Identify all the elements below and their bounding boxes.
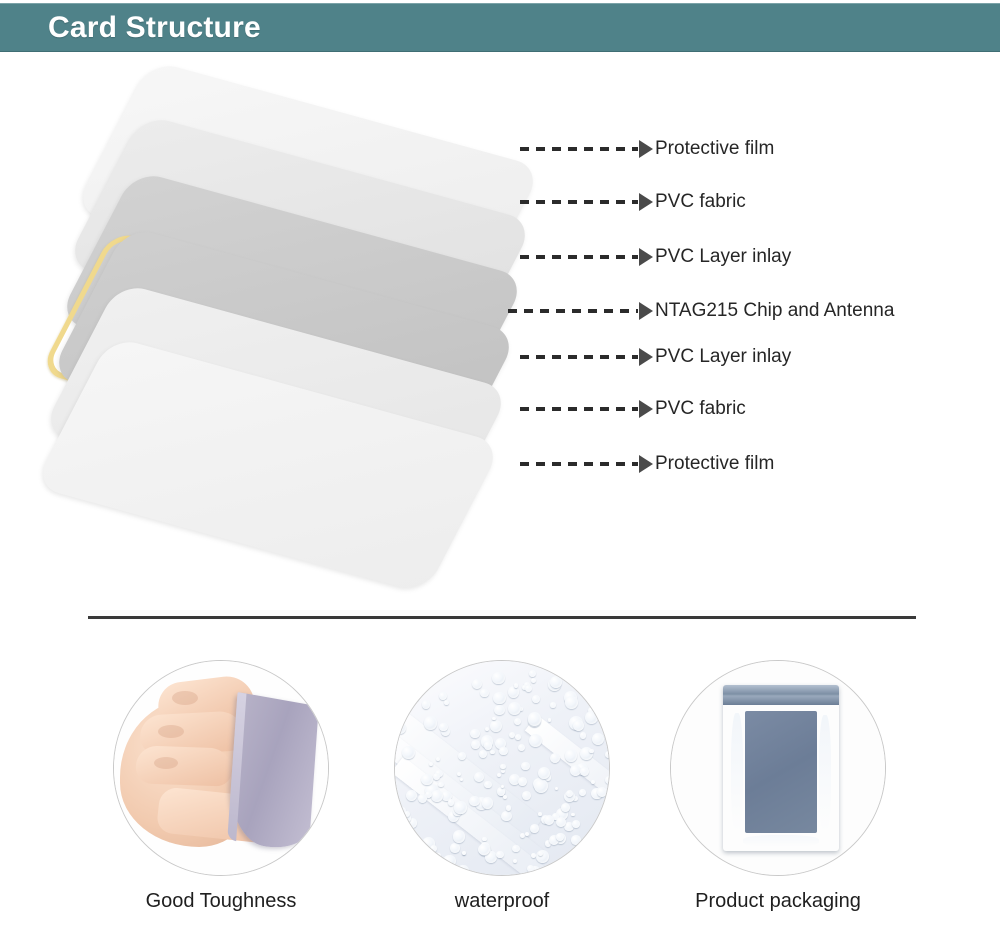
callout-label: PVC fabric	[655, 191, 746, 213]
water-droplet	[573, 720, 584, 731]
water-droplet	[512, 845, 520, 853]
water-droplet	[439, 692, 447, 700]
water-droplet	[600, 712, 606, 718]
water-droplet	[532, 695, 540, 703]
water-droplet	[497, 773, 501, 777]
water-droplet	[395, 865, 404, 874]
section-divider	[88, 616, 916, 619]
hand-knuckle	[158, 725, 184, 738]
water-droplet	[457, 865, 468, 876]
water-droplet	[529, 670, 536, 677]
card-structure-diagram: Protective film PVC fabric PVC Layer inl…	[0, 52, 1000, 600]
water-droplet	[518, 744, 525, 751]
water-droplet	[480, 689, 488, 697]
callout-label: Protective film	[655, 138, 774, 160]
water-droplet	[538, 812, 542, 816]
water-droplet	[402, 746, 415, 759]
water-droplet	[450, 843, 459, 852]
water-droplet	[591, 696, 596, 701]
callout-arrow-icon	[639, 140, 653, 158]
callout-dash-line	[520, 255, 638, 259]
water-droplet	[531, 678, 536, 683]
water-droplet	[550, 753, 561, 764]
water-droplet	[580, 767, 589, 776]
water-droplet	[571, 813, 575, 817]
callout-arrow-icon	[639, 193, 653, 211]
water-droplet	[550, 676, 562, 688]
callout-pvc-layer-inlay-bottom: PVC Layer inlay	[520, 346, 791, 368]
bent-pvc-card	[227, 692, 319, 854]
water-droplet	[394, 722, 406, 734]
feature-product-packaging: Product packaging	[653, 660, 903, 913]
water-droplet	[603, 700, 610, 708]
water-droplet	[484, 741, 493, 750]
water-droplet	[531, 853, 536, 858]
water-droplet	[479, 750, 487, 758]
water-droplet	[409, 841, 412, 844]
water-droplet	[422, 700, 430, 708]
water-droplet	[503, 795, 507, 799]
water-droplet	[418, 794, 427, 803]
feature-image-hand-bending-card	[113, 660, 329, 876]
bag-zip-seal	[723, 685, 839, 705]
bag-highlight	[819, 715, 831, 833]
water-droplet	[499, 747, 508, 756]
water-droplet	[580, 732, 587, 739]
water-droplet	[414, 854, 422, 862]
water-droplet	[587, 863, 591, 867]
callout-arrow-icon	[639, 348, 653, 366]
water-droplet	[520, 833, 525, 838]
water-droplet	[496, 851, 503, 858]
water-droplet	[538, 851, 543, 856]
hand-knuckle	[172, 691, 198, 705]
callout-pvc-fabric-bottom: PVC fabric	[520, 398, 746, 420]
water-droplet	[585, 711, 598, 724]
page-title: Card Structure	[48, 11, 261, 45]
feature-waterproof: waterproof	[377, 660, 627, 913]
hand-bending-card-photo	[114, 661, 328, 875]
water-droplet	[492, 672, 504, 684]
feature-image-waterproof	[394, 660, 610, 876]
water-droplet	[414, 840, 418, 844]
callout-arrow-icon	[639, 455, 653, 473]
water-droplet	[565, 696, 578, 709]
water-droplet	[413, 665, 427, 679]
water-droplet	[529, 734, 542, 747]
feature-caption: Product packaging	[653, 890, 903, 913]
water-droplet	[593, 701, 599, 707]
water-droplet	[592, 733, 604, 745]
water-droplet	[454, 801, 466, 813]
water-droplet	[522, 791, 531, 800]
water-droplet	[559, 663, 565, 669]
water-droplet	[421, 774, 433, 786]
feature-good-toughness: Good Toughness	[96, 660, 346, 913]
water-droplet	[470, 729, 480, 739]
water-droplet	[597, 787, 607, 797]
water-droplet	[492, 717, 495, 720]
water-droplet	[518, 777, 527, 786]
water-droplets-photo	[395, 661, 609, 875]
water-droplet	[561, 803, 570, 812]
water-droplet	[514, 683, 518, 687]
water-droplet	[605, 776, 610, 784]
water-droplet	[404, 811, 410, 817]
water-droplet	[515, 734, 521, 740]
water-droplet	[555, 787, 558, 790]
callout-protective-film-bottom: Protective film	[520, 453, 774, 475]
water-droplet	[405, 854, 413, 862]
antistatic-zip-bag	[723, 685, 839, 851]
water-droplet	[485, 727, 489, 731]
water-droplet	[471, 740, 480, 749]
callout-dash-line	[520, 462, 638, 466]
callout-ntag215-chip-and-antenna: NTAG215 Chip and Antenna	[508, 300, 894, 322]
water-droplet	[514, 718, 521, 725]
water-droplet	[457, 772, 461, 776]
callout-arrow-icon	[639, 302, 653, 320]
feature-panels: Good Toughness waterproof	[0, 660, 1000, 933]
callout-pvc-fabric-top: PVC fabric	[520, 191, 746, 213]
callout-dash-line	[508, 309, 638, 313]
callout-label: PVC Layer inlay	[655, 246, 791, 268]
water-droplet	[394, 827, 403, 836]
bag-window	[745, 711, 817, 833]
water-droplet	[521, 762, 529, 770]
water-droplet	[579, 846, 582, 849]
callout-label: PVC fabric	[655, 398, 746, 420]
callout-pvc-layer-inlay-top: PVC Layer inlay	[520, 246, 791, 268]
water-droplet	[589, 749, 594, 754]
callout-label: PVC Layer inlay	[655, 346, 791, 368]
callout-label: Protective film	[655, 453, 774, 475]
water-droplet	[434, 865, 447, 876]
bag-highlight	[743, 835, 819, 847]
callout-arrow-icon	[639, 400, 653, 418]
water-droplet	[603, 811, 610, 822]
water-droplet	[501, 769, 505, 773]
water-droplet	[472, 679, 482, 689]
water-droplet	[453, 830, 466, 843]
water-droplet	[548, 718, 551, 721]
water-droplet	[406, 790, 417, 801]
callout-dash-line	[520, 355, 638, 359]
water-droplet	[469, 796, 479, 806]
water-droplet	[424, 716, 438, 730]
feature-caption: Good Toughness	[96, 890, 346, 913]
water-droplet	[561, 859, 570, 868]
water-droplet	[421, 865, 424, 868]
water-droplet	[436, 853, 441, 858]
bag-highlight	[731, 713, 743, 833]
water-droplet	[462, 851, 466, 855]
water-droplet	[508, 702, 521, 715]
feature-caption: waterproof	[377, 890, 627, 913]
water-droplet	[534, 779, 548, 793]
water-droplet	[506, 805, 511, 810]
water-droplet	[484, 781, 491, 788]
water-droplet	[444, 700, 448, 704]
water-droplet	[490, 720, 502, 732]
hand-knuckle	[154, 757, 178, 769]
water-droplet	[478, 844, 490, 856]
water-droplet	[544, 815, 554, 825]
water-droplet	[430, 845, 437, 852]
water-droplet	[435, 675, 440, 680]
water-droplet	[439, 723, 447, 731]
water-droplet	[556, 833, 564, 841]
water-droplet	[508, 686, 519, 697]
feature-image-product-packaging	[670, 660, 886, 876]
water-droplet	[438, 782, 443, 787]
water-droplet	[525, 685, 532, 692]
water-droplet	[482, 797, 494, 809]
water-droplet	[501, 811, 512, 822]
water-droplet	[593, 661, 597, 665]
water-droplet	[396, 839, 404, 847]
water-droplet	[572, 820, 580, 828]
callout-protective-film-top: Protective film	[520, 138, 774, 160]
water-droplet	[500, 764, 505, 769]
water-droplet	[530, 824, 539, 833]
callout-dash-line	[520, 147, 638, 151]
callout-arrow-icon	[639, 248, 653, 266]
callout-dash-line	[520, 200, 638, 204]
water-droplet	[605, 751, 610, 758]
water-droplet	[579, 789, 586, 796]
zip-bag-photo	[671, 661, 885, 875]
water-droplet	[490, 750, 494, 754]
callout-label: NTAG215 Chip and Antenna	[655, 300, 894, 322]
water-droplet	[436, 757, 440, 761]
water-droplet	[571, 835, 581, 845]
callout-dash-line	[520, 407, 638, 411]
water-droplet	[493, 692, 506, 705]
water-droplet	[550, 702, 556, 708]
hand-finger-ring	[135, 745, 232, 786]
water-droplet	[580, 673, 585, 678]
water-droplet	[606, 664, 610, 670]
water-droplet	[565, 749, 578, 762]
water-droplet	[591, 843, 605, 857]
water-droplet	[414, 695, 419, 700]
water-droplet	[494, 705, 505, 716]
